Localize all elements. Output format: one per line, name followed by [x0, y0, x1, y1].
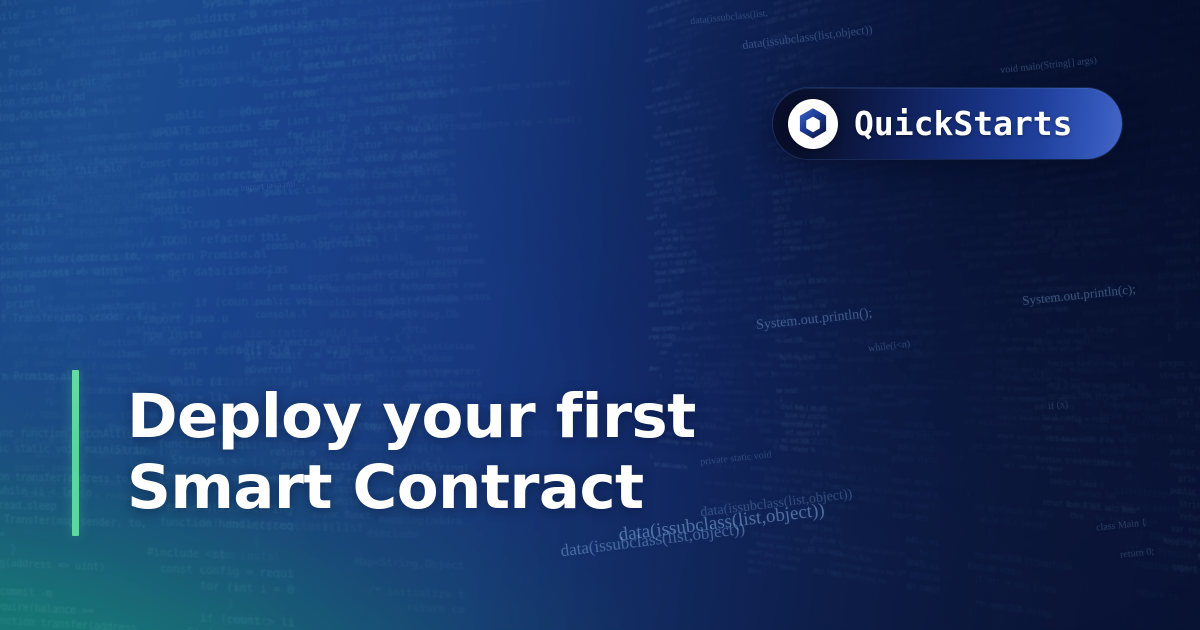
chainlink-hexagon-logo-icon — [788, 99, 838, 149]
page-title: Deploy your first Smart Contract — [79, 370, 696, 536]
heading-accent-bar — [72, 370, 79, 536]
page-title-line-1: Deploy your first — [127, 382, 696, 453]
hero-heading-block: Deploy your first Smart Contract — [72, 370, 696, 536]
quickstarts-banner: public static void main(String[] args) M… — [0, 0, 1200, 630]
page-title-line-2: Smart Contract — [127, 453, 696, 524]
quickstarts-badge-label: QuickStarts — [854, 107, 1073, 140]
quickstarts-badge[interactable]: QuickStarts — [773, 88, 1122, 159]
